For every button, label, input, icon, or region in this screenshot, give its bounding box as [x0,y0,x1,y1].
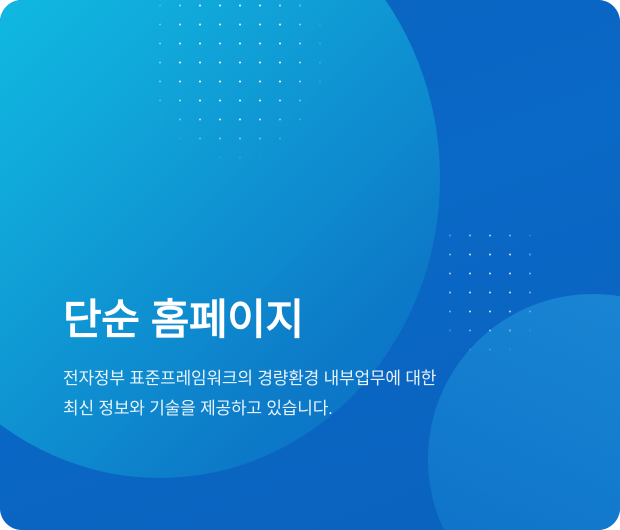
hero-content: 단순 홈페이지 전자정부 표준프레임워크의 경량환경 내부업무에 대한 최신 정… [63,292,580,424]
hero-subtitle: 전자정부 표준프레임워크의 경량환경 내부업무에 대한 최신 정보와 기술을 제… [63,364,563,424]
hero-subtitle-line-1: 전자정부 표준프레임워크의 경량환경 내부업무에 대한 [63,364,563,394]
hero-subtitle-line-2: 최신 정보와 기술을 제공하고 있습니다. [63,394,563,424]
page-title: 단순 홈페이지 [63,292,580,348]
hero-banner-card: 단순 홈페이지 전자정부 표준프레임워크의 경량환경 내부업무에 대한 최신 정… [0,0,620,530]
